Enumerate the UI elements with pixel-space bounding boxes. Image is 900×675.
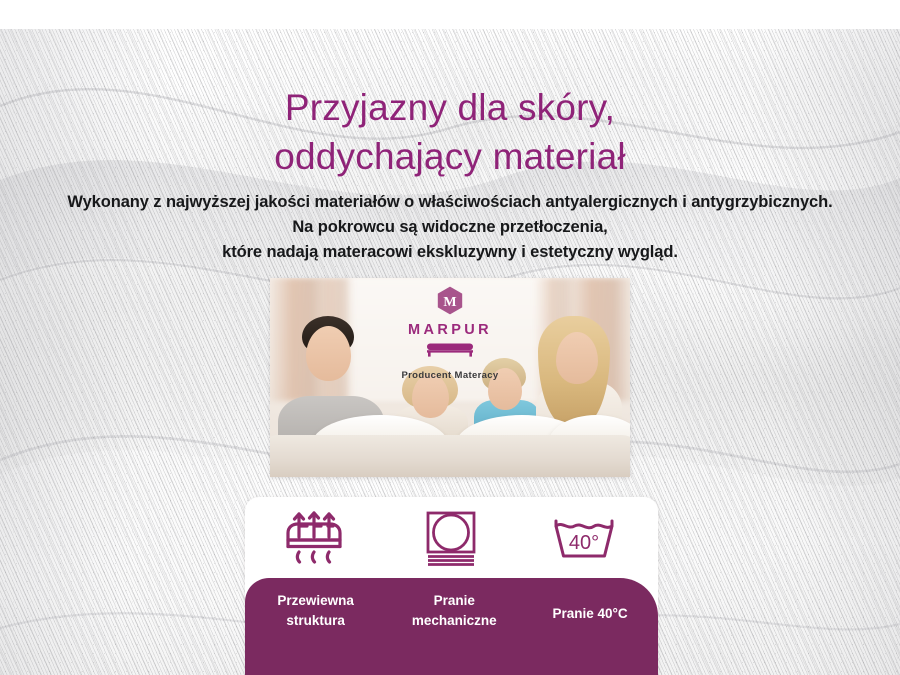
feature-icon-breathable xyxy=(271,507,357,569)
logo-monogram-letter: M xyxy=(443,295,456,310)
bed-icon xyxy=(424,340,476,357)
page-title-line-2: oddychający materiał xyxy=(0,132,900,181)
lead-line-3: które nadają materacowi ekskluzywny i es… xyxy=(0,240,900,265)
wash-temperature-label: 40° xyxy=(569,532,599,554)
feature-label-machine-wash: Pranie mechaniczne xyxy=(386,578,522,630)
hexagon-monogram-icon: M xyxy=(437,286,463,315)
lead-line-1: Wykonany z najwyższej jakości materiałów… xyxy=(0,190,900,215)
logo-wordmark: MARPUR xyxy=(270,323,630,338)
washing-machine-icon xyxy=(420,507,482,569)
feature-label-machine-wash-line1: Pranie xyxy=(386,591,522,611)
feature-icon-wash-40: 40° xyxy=(546,512,632,564)
feature-label-breathable: Przewiewna struktura xyxy=(245,578,386,630)
photo-mattress xyxy=(270,435,630,477)
lead-line-2: Na pokrowcu są widoczne przetłoczenia, xyxy=(0,215,900,240)
page-title-line-1: Przyjazny dla skóry, xyxy=(0,83,900,132)
feature-label-band: Przewiewna struktura Pranie mechaniczne … xyxy=(245,578,658,675)
feature-label-wash-40: Pranie 40°C xyxy=(522,578,658,624)
feature-icon-machine-wash xyxy=(408,507,494,569)
page-title: Przyjazny dla skóry, oddychający materia… xyxy=(0,83,900,181)
breathable-mattress-icon xyxy=(276,507,352,569)
feature-label-machine-wash-line2: mechaniczne xyxy=(386,611,522,631)
logo-tagline: Producent Materacy xyxy=(270,370,630,381)
feature-label-breathable-line1: Przewiewna xyxy=(245,591,386,611)
lead-paragraph: Wykonany z najwyższej jakości materiałów… xyxy=(0,190,900,265)
family-photo: M MARPUR Producent Materacy xyxy=(270,278,630,477)
top-white-margin xyxy=(0,0,900,29)
feature-label-breathable-line2: struktura xyxy=(245,611,386,631)
photo-daughter-face xyxy=(412,374,449,418)
feature-label-wash-40-line1: Pranie 40°C xyxy=(522,604,658,624)
wash-tub-40-icon: 40° xyxy=(549,512,629,564)
feature-card: 40° Przewiewna struktura Pranie mechanic… xyxy=(245,497,658,675)
marpur-logo: M MARPUR Producent Materacy xyxy=(270,286,630,381)
promo-banner: Przyjazny dla skóry, oddychający materia… xyxy=(0,0,900,675)
feature-icon-row: 40° xyxy=(245,497,658,578)
